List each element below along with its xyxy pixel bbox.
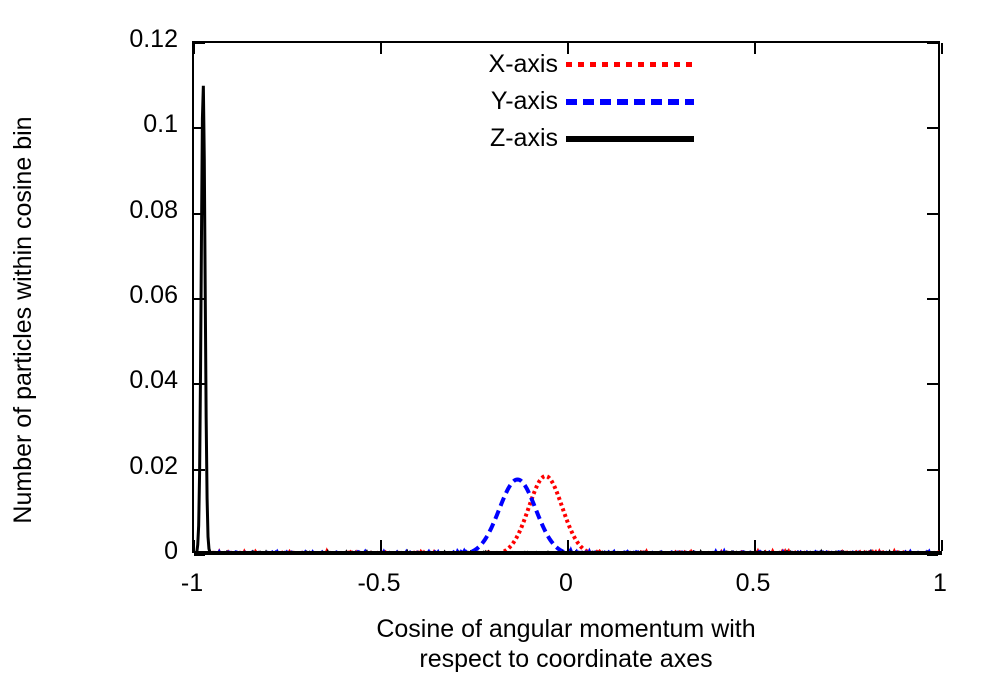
- legend-swatch-x-axis: [566, 62, 694, 67]
- legend-item-y-axis: Y-axis: [438, 83, 706, 120]
- y-tick-mark-right: [927, 213, 938, 215]
- x-tick-label: 1: [880, 569, 1000, 598]
- y-tick-mark: [194, 127, 205, 129]
- y-tick-mark: [194, 469, 205, 471]
- x-axis-title-line1: Cosine of angular momentum with: [192, 614, 940, 644]
- x-tick-mark-top: [941, 43, 943, 54]
- y-tick-label: 0.08: [0, 196, 178, 225]
- x-tick-mark-top: [380, 43, 382, 54]
- x-tick-mark: [567, 540, 569, 551]
- legend-item-x-axis: X-axis: [438, 46, 706, 83]
- y-tick-mark: [194, 554, 205, 556]
- legend-label-x-axis: X-axis: [489, 46, 558, 83]
- x-tick-mark: [193, 540, 195, 551]
- x-tick-label: -1: [132, 569, 252, 598]
- y-tick-mark-right: [927, 554, 938, 556]
- legend-swatch-z-axis: [566, 136, 694, 142]
- y-tick-label: 0.1: [0, 110, 178, 139]
- y-tick-label: 0.06: [0, 281, 178, 310]
- y-tick-mark-right: [927, 298, 938, 300]
- chart-figure: Number of particles within cosine bin 00…: [0, 0, 1000, 700]
- y-tick-mark-right: [927, 383, 938, 385]
- x-axis-title: Cosine of angular momentum with respect …: [192, 614, 940, 674]
- legend-item-z-axis: Z-axis: [438, 120, 706, 157]
- x-tick-label: 0: [506, 569, 626, 598]
- baseline-band: [194, 551, 942, 555]
- y-tick-label: 0.12: [0, 25, 178, 54]
- x-tick-mark-top: [754, 43, 756, 54]
- y-tick-mark-right: [927, 127, 938, 129]
- x-tick-mark: [941, 540, 943, 551]
- legend: X-axis Y-axis Z-axis: [438, 46, 706, 158]
- legend-label-z-axis: Z-axis: [490, 120, 558, 157]
- y-tick-mark: [194, 213, 205, 215]
- legend-label-y-axis: Y-axis: [491, 83, 558, 120]
- x-tick-label: 0.5: [693, 569, 813, 598]
- x-tick-mark: [380, 540, 382, 551]
- y-tick-label: 0.02: [0, 452, 178, 481]
- y-tick-mark-right: [927, 469, 938, 471]
- x-tick-mark-top: [193, 43, 195, 54]
- y-tick-mark: [194, 298, 205, 300]
- x-axis-title-line2: respect to coordinate axes: [192, 644, 940, 674]
- legend-swatch-y-axis: [566, 99, 694, 105]
- y-tick-mark: [194, 42, 205, 44]
- y-tick-label: 0.04: [0, 366, 178, 395]
- x-tick-mark: [754, 540, 756, 551]
- x-tick-label: -0.5: [319, 569, 439, 598]
- y-tick-mark-right: [927, 42, 938, 44]
- y-tick-mark: [194, 383, 205, 385]
- y-tick-label: 0: [0, 537, 178, 566]
